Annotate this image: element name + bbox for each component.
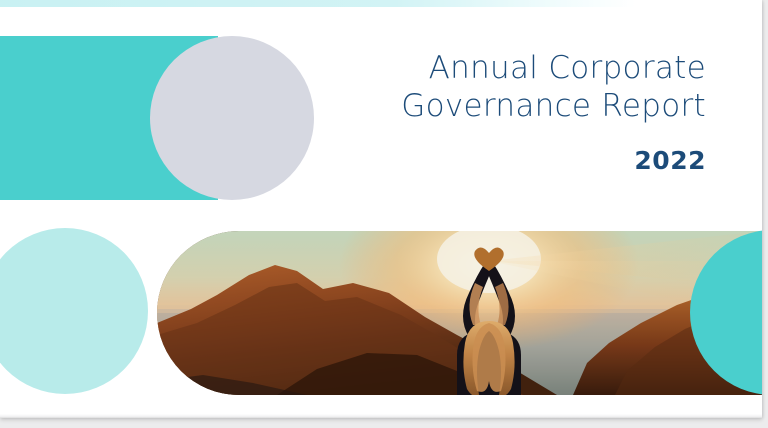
page-title: Annual Corporate Governance Report [360, 50, 706, 126]
top-accent-strip [0, 0, 636, 7]
hero-photo [157, 231, 762, 395]
slide-bottom-edge [0, 414, 762, 418]
grey-circle-shape [150, 36, 314, 200]
app-backdrop: Annual Corporate Governance Report 2022 [0, 0, 768, 428]
title-block: Annual Corporate Governance Report 2022 [360, 50, 706, 173]
hero-photo-artwork [157, 231, 762, 395]
slide-canvas[interactable]: Annual Corporate Governance Report 2022 [0, 0, 762, 418]
report-year: 2022 [360, 148, 706, 173]
pale-cyan-circle-shape [0, 228, 148, 394]
